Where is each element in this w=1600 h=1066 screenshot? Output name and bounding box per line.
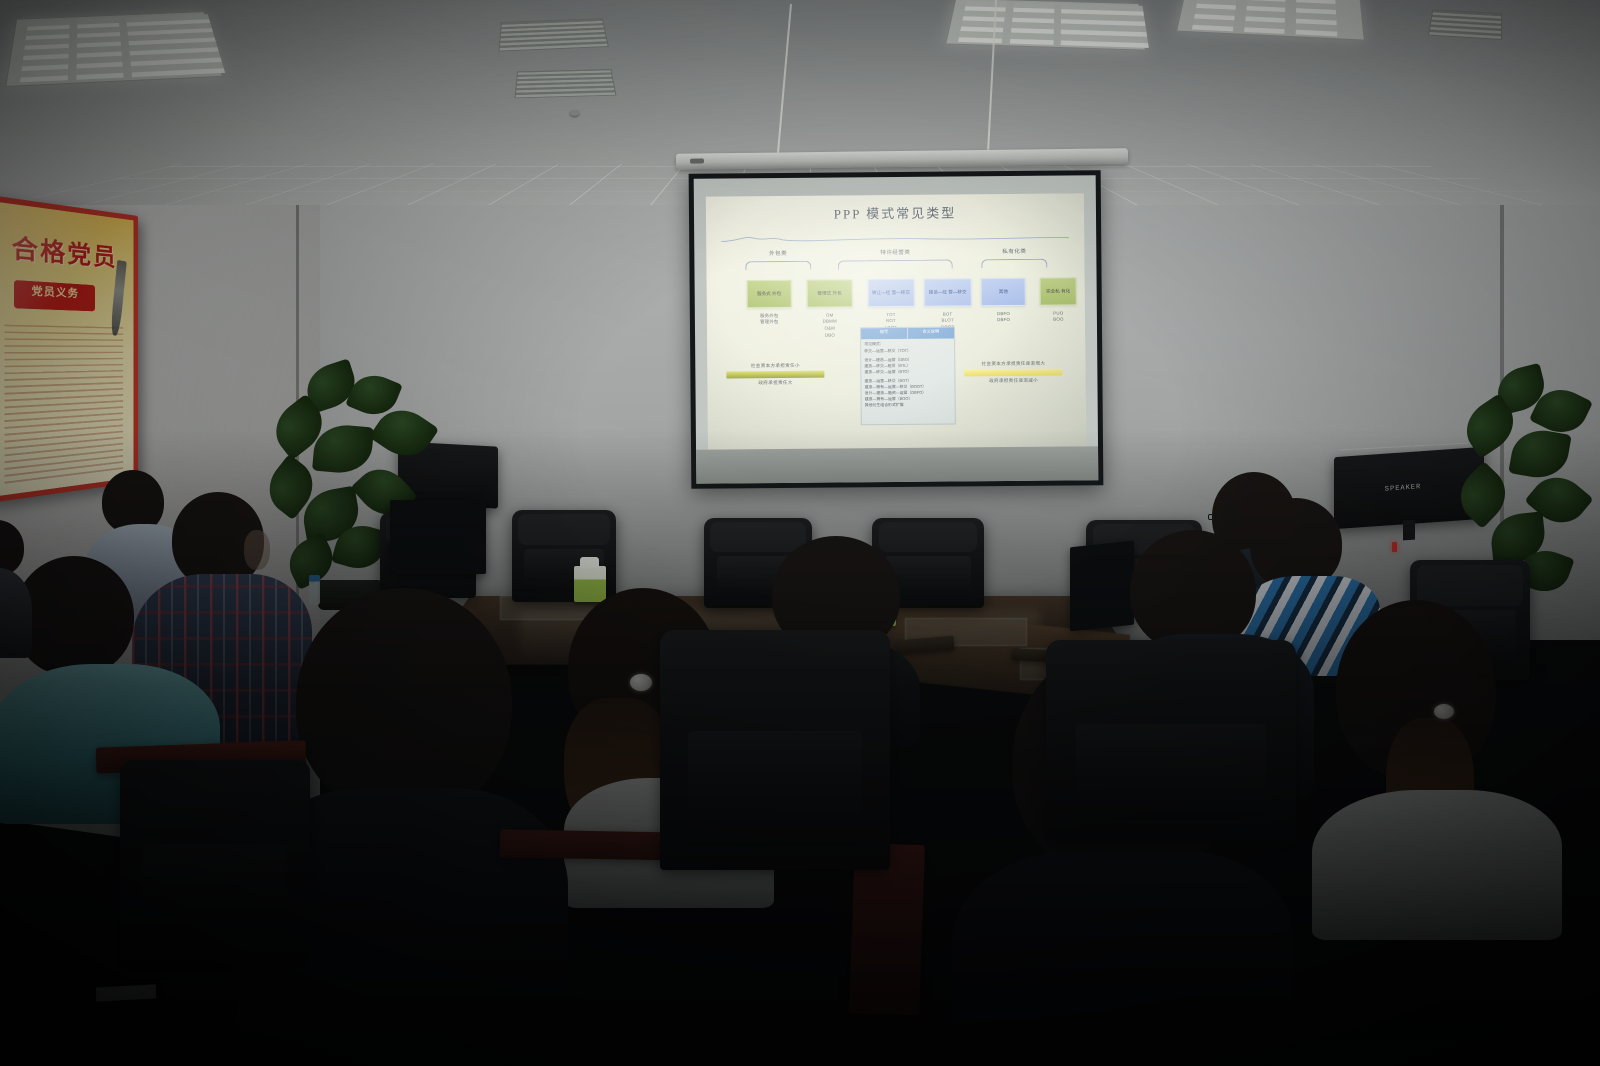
model-box-1[interactable]: 服务式 外包	[746, 280, 792, 308]
group-label-2: 私有化类	[1002, 247, 1026, 255]
ceiling-light-right	[945, 0, 1146, 51]
detail-row: 其他衍生组合形式扩展	[865, 401, 952, 408]
eyeglasses	[1208, 514, 1238, 520]
power-led-indicator	[1392, 542, 1397, 552]
poster-glass-reflection	[0, 201, 133, 497]
responsibility-bar-left: 社会资本方承担责任小 政府承担责任大	[726, 363, 824, 387]
hvac-vent-center	[514, 69, 616, 98]
bar-right-fill	[964, 369, 1062, 377]
presentation-slide: PPP 模式常见类型 外包类 特许经营类 私有化类 服务式 外包 管理式 外包 …	[706, 194, 1086, 450]
audience-chair-back-right[interactable]	[1046, 640, 1296, 840]
hair-clip	[630, 674, 652, 691]
audience-chair-back-left[interactable]	[120, 760, 310, 960]
brace-0	[745, 261, 811, 271]
model-box-3[interactable]: 转让—经 营—移交	[867, 279, 914, 307]
responsibility-bar-right: 社会资本方承担责任逐渐增大 政府承担责任逐渐减小	[964, 361, 1062, 385]
ceiling-light-left	[5, 11, 223, 87]
ceiling-wire-1	[777, 4, 792, 154]
bar-left-top-caption: 社会资本方承担责任小	[726, 363, 824, 370]
ceiling-light-far-right	[1176, 0, 1365, 41]
attendee-right-ponytail-woman	[1306, 600, 1556, 930]
detail-panel-header: 缩写 含义说明	[861, 327, 954, 339]
screen-blank-area	[696, 447, 1098, 484]
bar-left-bottom-caption: 政府承担责任大	[726, 380, 824, 387]
bar-left-fill	[726, 371, 824, 379]
attendee-far-left-edge	[0, 520, 30, 650]
slide-detail-panel[interactable]: 缩写 含义说明 常见模式： 移交—运营—移交（TOT） 设计—建造—运营（DBO…	[860, 326, 955, 425]
head	[296, 588, 512, 816]
model-box-4[interactable]: 建设—经 营—移交	[924, 278, 971, 306]
speaker-right-brand: SPEAKER	[1385, 483, 1421, 494]
audience-chair-back-center[interactable]	[660, 630, 890, 870]
smoke-detector	[570, 110, 579, 116]
detail-panel-body: 常见模式： 移交—运营—移交（TOT） 设计—建造—运营（DBO） 建造—移交—…	[861, 339, 954, 410]
model-box-5[interactable]: 其他	[981, 278, 1027, 306]
screen-surface: PPP 模式常见类型 外包类 特许经营类 私有化类 服务式 外包 管理式 外包 …	[694, 175, 1099, 483]
torso-white-top	[1312, 790, 1562, 940]
group-label-0: 外包类	[769, 249, 787, 257]
av-equipment-monitor	[390, 500, 486, 574]
torso	[0, 568, 32, 658]
roller-knob	[690, 158, 704, 163]
projection-screen[interactable]: PPP 模式常见类型 外包类 特许经营类 私有化类 服务式 外包 管理式 外包 …	[689, 170, 1104, 489]
detail-col-1: 含义说明	[907, 327, 954, 339]
party-member-poster: 合格党员 党员义务	[0, 194, 138, 503]
acronyms-6: PUO BOO	[1053, 310, 1063, 323]
hair-clip	[1434, 704, 1454, 719]
slide-divider-wave	[721, 232, 1069, 245]
speaker-right-bracket	[1403, 520, 1415, 541]
model-box-2[interactable]: 管理式 外包	[807, 279, 853, 307]
face	[244, 530, 270, 570]
meeting-room-photo: PPP 模式常见类型 外包类 特许经营类 私有化类 服务式 外包 管理式 外包 …	[0, 0, 1600, 1066]
acronyms-1: 服务外包 管理外包	[760, 313, 778, 326]
bar-right-top-caption: 社会资本方承担责任逐渐增大	[964, 361, 1062, 368]
slide-group-row: 外包类 特许经营类 私有化类	[706, 247, 1084, 273]
brace-1	[838, 260, 953, 270]
acronyms-2: OM DBMM O&M DBO	[823, 312, 837, 339]
bar-right-bottom-caption: 政府承担责任逐渐减小	[964, 378, 1062, 385]
detail-col-0: 缩写	[861, 328, 907, 340]
model-box-private-full[interactable]: 完全私 有化	[1039, 277, 1077, 305]
acronyms-5: DBFO DBFO	[997, 311, 1010, 324]
head	[14, 556, 134, 676]
hvac-vent-left	[499, 18, 609, 51]
slide-title: PPP 模式常见类型	[706, 201, 1084, 223]
hvac-vent-far-right	[1428, 9, 1502, 40]
torso	[952, 850, 1292, 1066]
group-label-1: 特许经营类	[880, 248, 910, 256]
paper-on-front-desk	[96, 984, 157, 1001]
